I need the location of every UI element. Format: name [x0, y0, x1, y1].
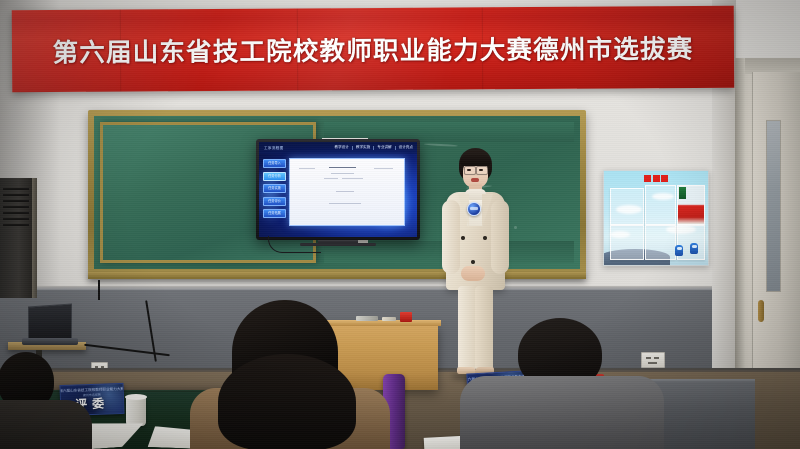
- door-handle[interactable]: [758, 300, 764, 322]
- wall-cable-down: [98, 280, 100, 300]
- presenter-eye: [479, 169, 483, 171]
- audience-left-dark-coat: [0, 352, 88, 449]
- wall-bulletin-board: [603, 170, 709, 266]
- slide-nav-item-1[interactable]: 教学实施: [356, 145, 370, 150]
- bulletin-title: [644, 175, 668, 182]
- slide-sidebar-item-1[interactable]: 任务分析: [263, 172, 286, 181]
- banner-title: 第六届山东省技工院校教师职业能力大赛德州市选拔赛: [12, 28, 734, 69]
- left-cabinet: [0, 178, 34, 298]
- tv-power-cable: [268, 236, 321, 253]
- competition-banner: 第六届山东省技工院校教师职业能力大赛德州市选拔赛: [12, 6, 734, 92]
- jacket-button: [461, 236, 465, 240]
- bulletin-panel[interactable]: [610, 188, 644, 225]
- jacket-button: [483, 236, 487, 240]
- slide-nav-item-3[interactable]: 设计亮点: [399, 145, 413, 150]
- paper-cup-rim: [125, 394, 147, 400]
- cabinet-edge: [32, 178, 37, 298]
- slide-nav-item-0[interactable]: 教学设计: [335, 145, 349, 150]
- presenter-clasped-hands: [461, 266, 485, 281]
- bulletin-poster[interactable]: [677, 185, 705, 225]
- paper-cup: [126, 396, 146, 426]
- presenter-arm-right: [491, 200, 509, 274]
- lectern-small-objects: [416, 317, 430, 321]
- presenter-eye: [467, 169, 471, 171]
- audience-hair-fall: [218, 354, 356, 449]
- door-glass-panel: [766, 120, 781, 292]
- red-cup-on-podium: [400, 312, 412, 322]
- bulletin-panel[interactable]: [610, 225, 644, 260]
- presenter-mouth: [471, 178, 479, 182]
- bulletin-panel[interactable]: [645, 185, 676, 225]
- slide-sidebar: 任务导入 任务分析 任务实施 任务评价 任务拓展: [263, 159, 286, 218]
- presenter-badge: [467, 202, 481, 216]
- audience-gray-coat-right: [466, 318, 656, 449]
- tv-screen: 工序流程图 教学设计 教学实施 专业讲解 设计亮点 任务导入 任务分析 任务实施…: [259, 142, 417, 237]
- slide-nav-item-2[interactable]: 专业讲解: [377, 145, 391, 150]
- presenter-arm-left: [442, 200, 460, 274]
- slide-logo-text: 工序流程图: [264, 146, 283, 151]
- slide-document-panel: [289, 158, 405, 226]
- lectern-small-objects: [382, 317, 396, 321]
- jacket-button: [471, 260, 475, 264]
- audience-long-hair-center: [196, 300, 376, 449]
- wall-mounted-tv[interactable]: 工序流程图 教学设计 教学实施 专业讲解 设计亮点 任务导入 任务分析 任务实施…: [256, 139, 420, 240]
- bulletin-mascot-icon: [690, 243, 698, 254]
- laptop-keyboard-base[interactable]: [22, 338, 78, 345]
- slide-sidebar-item-3[interactable]: 任务评价: [263, 197, 286, 206]
- bulletin-mascot-icon: [675, 245, 683, 256]
- wall-divider-line: [0, 286, 800, 290]
- classroom-scene: 第六届山东省技工院校教师职业能力大赛德州市选拔赛: [0, 0, 800, 449]
- audience-shoulders: [460, 376, 664, 449]
- slide-sidebar-item-2[interactable]: 任务实施: [263, 184, 286, 193]
- bulletin-panel[interactable]: [645, 225, 676, 260]
- slide-sidebar-item-4[interactable]: 任务拓展: [263, 209, 286, 218]
- slide-sidebar-item-0[interactable]: 任务导入: [263, 159, 286, 168]
- audience-shoulders: [0, 400, 92, 449]
- presenter-fringe: [460, 155, 491, 166]
- slide-nav: 教学设计 教学实施 专业讲解 设计亮点: [335, 145, 414, 150]
